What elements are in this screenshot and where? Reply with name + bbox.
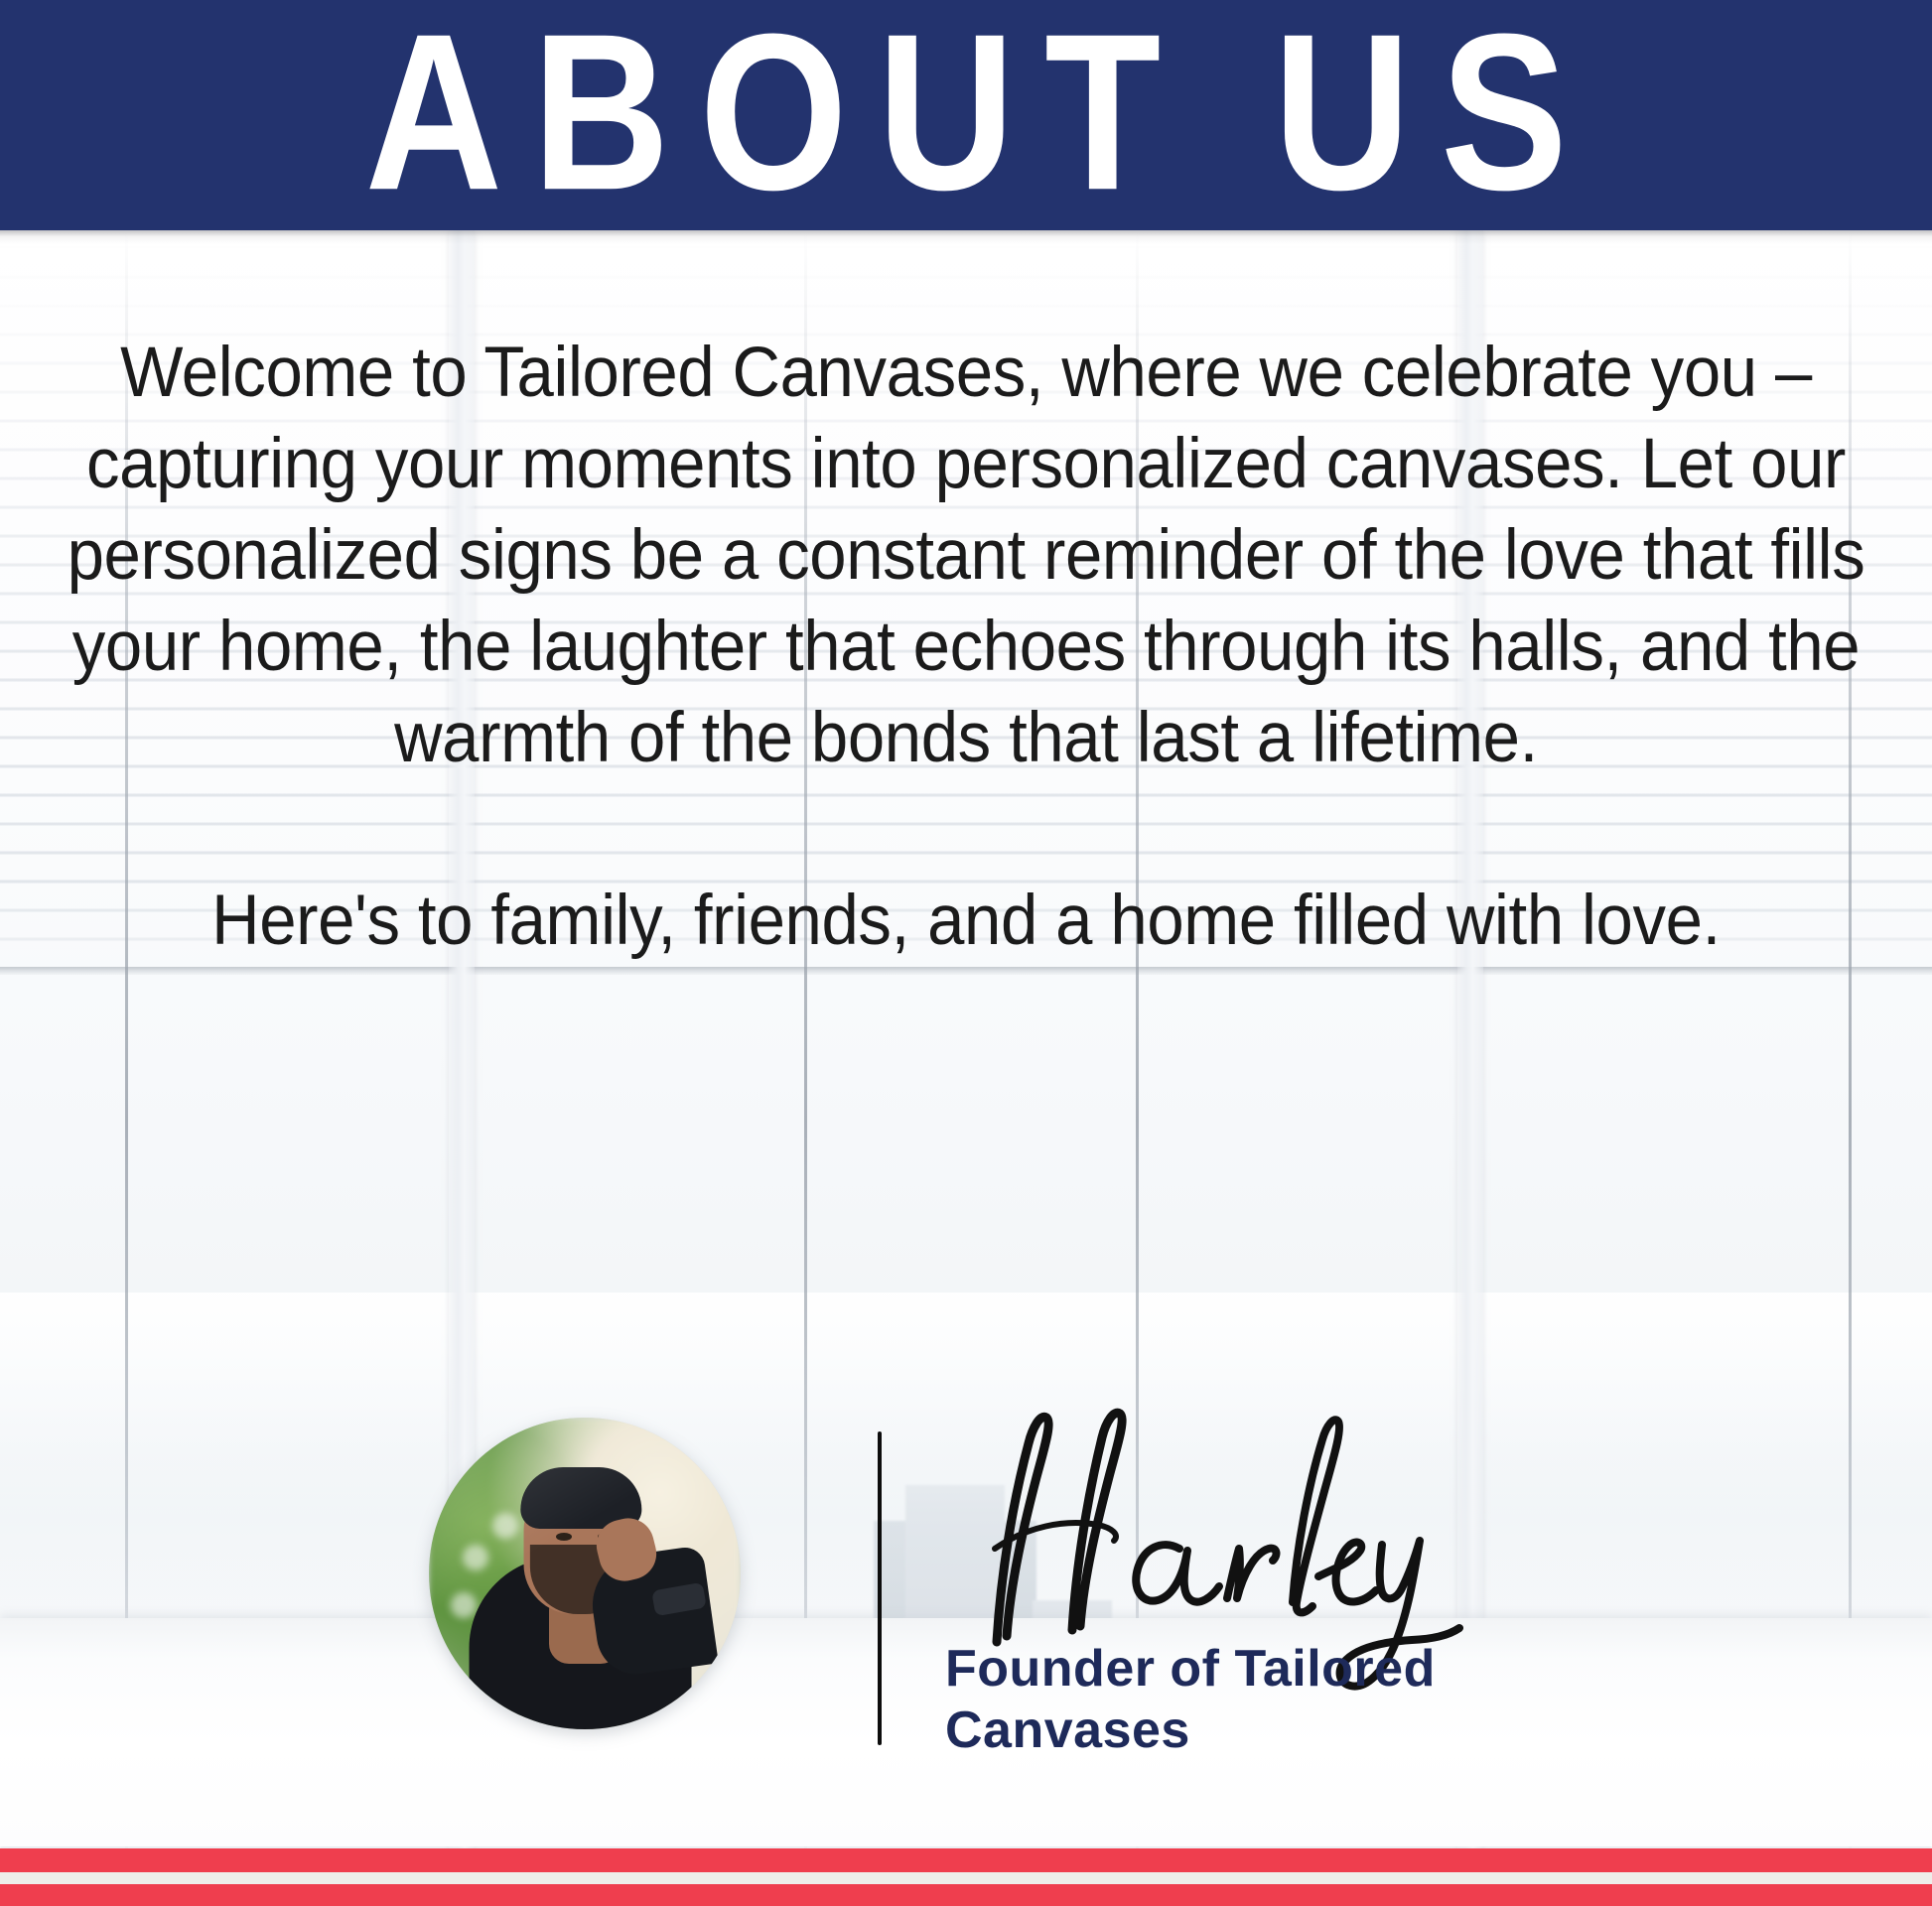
about-us-page: ABOUT US — [0, 0, 1932, 1906]
founder-signature-block: Founder of Tailored Canvases — [0, 1390, 1932, 1856]
bottom-accent-bar-top — [0, 1848, 1932, 1872]
avatar — [429, 1418, 741, 1729]
vertical-divider — [878, 1431, 882, 1745]
founder-role-line-2: Canvases — [945, 1700, 1581, 1761]
founder-role: Founder of Tailored Canvases — [945, 1638, 1581, 1761]
bottom-accent-bar-bottom — [0, 1884, 1932, 1906]
paragraph-intro: Welcome to Tailored Canvases, where we c… — [54, 328, 1879, 784]
page-title: ABOUT US — [335, 2, 1596, 221]
signature-harley — [923, 1400, 1479, 1658]
paragraph-spacer — [0, 784, 1932, 876]
bottom-accent-gap — [0, 1872, 1932, 1884]
header-drop-shadow — [0, 230, 1932, 244]
header-band: ABOUT US — [0, 0, 1932, 230]
paragraph-closing: Here's to family, friends, and a home fi… — [54, 876, 1879, 967]
blinds-bottom-edge — [0, 967, 1932, 975]
founder-role-line-1: Founder of Tailored — [945, 1638, 1581, 1700]
avatar-highlight — [429, 1418, 741, 1729]
about-copy: Welcome to Tailored Canvases, where we c… — [0, 328, 1932, 967]
